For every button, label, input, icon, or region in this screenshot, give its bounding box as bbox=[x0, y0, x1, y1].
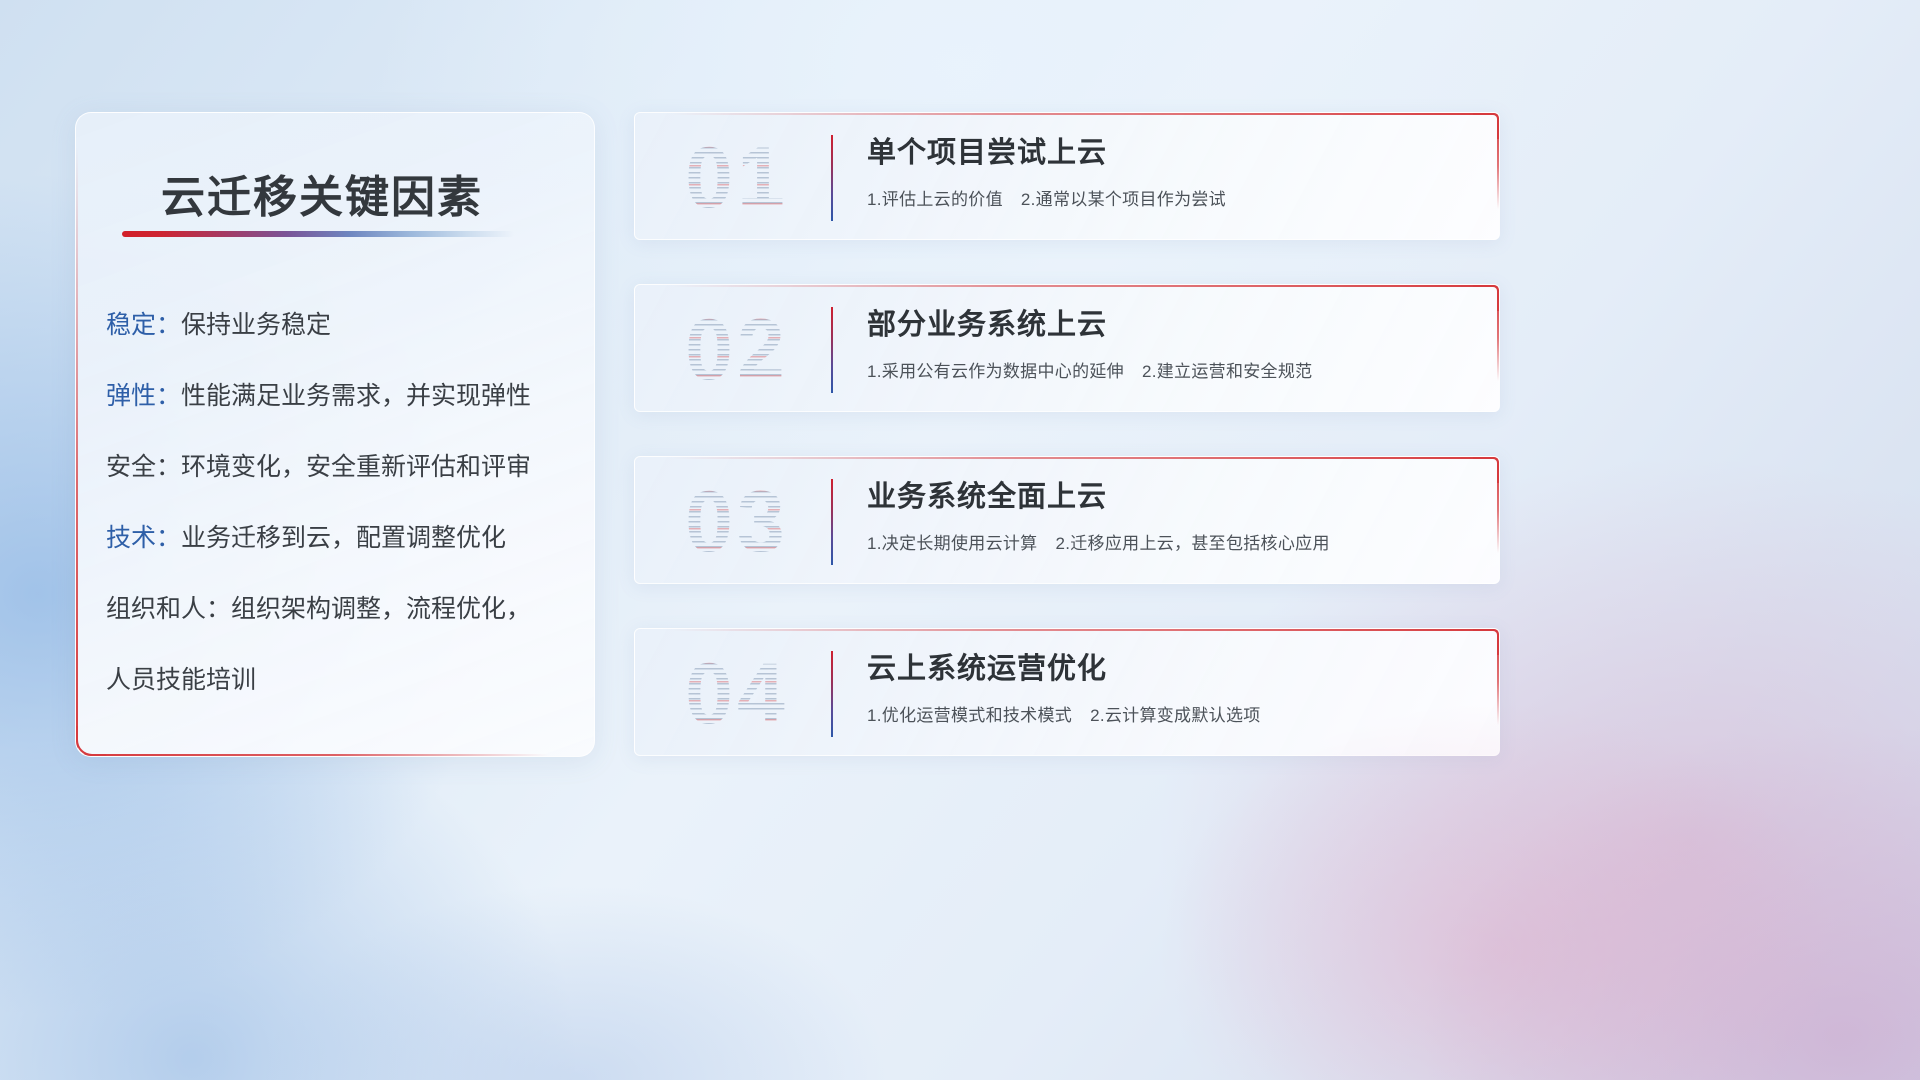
title-gradient-rule bbox=[122, 231, 514, 237]
step-title: 云上系统运营优化 bbox=[867, 651, 1475, 687]
panel-title: 云迁移关键因素 bbox=[161, 161, 483, 225]
card-accent-top-border bbox=[673, 285, 1499, 287]
step-title: 单个项目尝试上云 bbox=[867, 135, 1475, 171]
step-description: 1.优化运营模式和技术模式2.云计算变成默认选项 bbox=[867, 701, 1475, 726]
factor-row: 弹性：性能满足业务需求，并实现弹性 bbox=[106, 384, 568, 409]
step-body: 部分业务系统上云1.采用公有云作为数据中心的延伸2.建立运营和安全规范 bbox=[867, 307, 1475, 382]
factor-key: 弹性： bbox=[106, 382, 181, 410]
factor-value: 组织架构调整，流程优化， bbox=[231, 595, 531, 623]
step-desc-part-a: 1.采用公有云作为数据中心的延伸 bbox=[867, 362, 1124, 381]
step-divider-line bbox=[831, 651, 833, 737]
step-number: 01 bbox=[657, 127, 817, 229]
step-body: 单个项目尝试上云1.评估上云的价值2.通常以某个项目作为尝试 bbox=[867, 135, 1475, 210]
factor-key: 技术： bbox=[106, 524, 181, 552]
step-desc-part-a: 1.评估上云的价值 bbox=[867, 190, 1003, 209]
step-number: 02 bbox=[657, 299, 817, 401]
migration-steps-list: 0101单个项目尝试上云1.评估上云的价值2.通常以某个项目作为尝试0202部分… bbox=[634, 112, 1500, 756]
panel-accent-left-border bbox=[76, 147, 78, 756]
step-divider-line bbox=[831, 135, 833, 221]
factor-row: 人员技能培训 bbox=[106, 668, 568, 693]
step-divider-line bbox=[831, 479, 833, 565]
step-desc-part-b: 2.建立运营和安全规范 bbox=[1142, 362, 1312, 381]
step-description: 1.决定长期使用云计算2.迁移应用上云，甚至包括核心应用 bbox=[867, 529, 1475, 554]
step-desc-part-a: 1.决定长期使用云计算 bbox=[867, 534, 1037, 553]
step-body: 业务系统全面上云1.决定长期使用云计算2.迁移应用上云，甚至包括核心应用 bbox=[867, 479, 1475, 554]
step-card[interactable]: 0303业务系统全面上云1.决定长期使用云计算2.迁移应用上云，甚至包括核心应用 bbox=[634, 456, 1500, 584]
card-accent-top-border bbox=[673, 629, 1499, 631]
step-desc-part-b: 2.云计算变成默认选项 bbox=[1090, 706, 1260, 725]
panel-accent-bottom-border bbox=[76, 754, 548, 756]
factor-list: 稳定：保持业务稳定弹性：性能满足业务需求，并实现弹性安全：环境变化，安全重新评估… bbox=[106, 313, 568, 693]
step-number: 03 bbox=[657, 471, 817, 573]
factor-row: 技术：业务迁移到云，配置调整优化 bbox=[106, 526, 568, 551]
step-number: 04 bbox=[657, 643, 817, 745]
factor-value: 人员技能培训 bbox=[106, 666, 256, 694]
step-card[interactable]: 0101单个项目尝试上云1.评估上云的价值2.通常以某个项目作为尝试 bbox=[634, 112, 1500, 240]
step-desc-part-a: 1.优化运营模式和技术模式 bbox=[867, 706, 1072, 725]
card-accent-top-border bbox=[673, 457, 1499, 459]
slide-canvas: 云迁移关键因素 稳定：保持业务稳定弹性：性能满足业务需求，并实现弹性安全：环境变… bbox=[0, 0, 1920, 1080]
factor-value: 业务迁移到云，配置调整优化 bbox=[181, 524, 506, 552]
factor-key: 安全： bbox=[106, 453, 181, 481]
card-accent-corner bbox=[1473, 457, 1499, 483]
key-factors-panel: 云迁移关键因素 稳定：保持业务稳定弹性：性能满足业务需求，并实现弹性安全：环境变… bbox=[75, 112, 595, 757]
factor-value: 保持业务稳定 bbox=[181, 311, 331, 339]
card-accent-top-border bbox=[673, 113, 1499, 115]
card-accent-corner bbox=[1473, 113, 1499, 139]
step-title: 部分业务系统上云 bbox=[867, 307, 1475, 343]
factor-value: 性能满足业务需求，并实现弹性 bbox=[181, 382, 531, 410]
factor-row: 稳定：保持业务稳定 bbox=[106, 313, 568, 338]
step-card[interactable]: 0404云上系统运营优化1.优化运营模式和技术模式2.云计算变成默认选项 bbox=[634, 628, 1500, 756]
step-description: 1.采用公有云作为数据中心的延伸2.建立运营和安全规范 bbox=[867, 357, 1475, 382]
step-desc-part-b: 2.迁移应用上云，甚至包括核心应用 bbox=[1055, 534, 1329, 553]
factor-row: 安全：环境变化，安全重新评估和评审 bbox=[106, 455, 568, 480]
step-desc-part-b: 2.通常以某个项目作为尝试 bbox=[1021, 190, 1226, 209]
card-accent-corner bbox=[1473, 629, 1499, 655]
step-divider-line bbox=[831, 307, 833, 393]
factor-key: 稳定： bbox=[106, 311, 181, 339]
step-description: 1.评估上云的价值2.通常以某个项目作为尝试 bbox=[867, 185, 1475, 210]
step-title: 业务系统全面上云 bbox=[867, 479, 1475, 515]
step-card[interactable]: 0202部分业务系统上云1.采用公有云作为数据中心的延伸2.建立运营和安全规范 bbox=[634, 284, 1500, 412]
card-accent-corner bbox=[1473, 285, 1499, 311]
factor-key: 组织和人： bbox=[106, 595, 231, 623]
step-body: 云上系统运营优化1.优化运营模式和技术模式2.云计算变成默认选项 bbox=[867, 651, 1475, 726]
panel-accent-corner bbox=[76, 726, 106, 756]
factor-row: 组织和人：组织架构调整，流程优化， bbox=[106, 597, 568, 622]
factor-value: 环境变化，安全重新评估和评审 bbox=[181, 453, 531, 481]
